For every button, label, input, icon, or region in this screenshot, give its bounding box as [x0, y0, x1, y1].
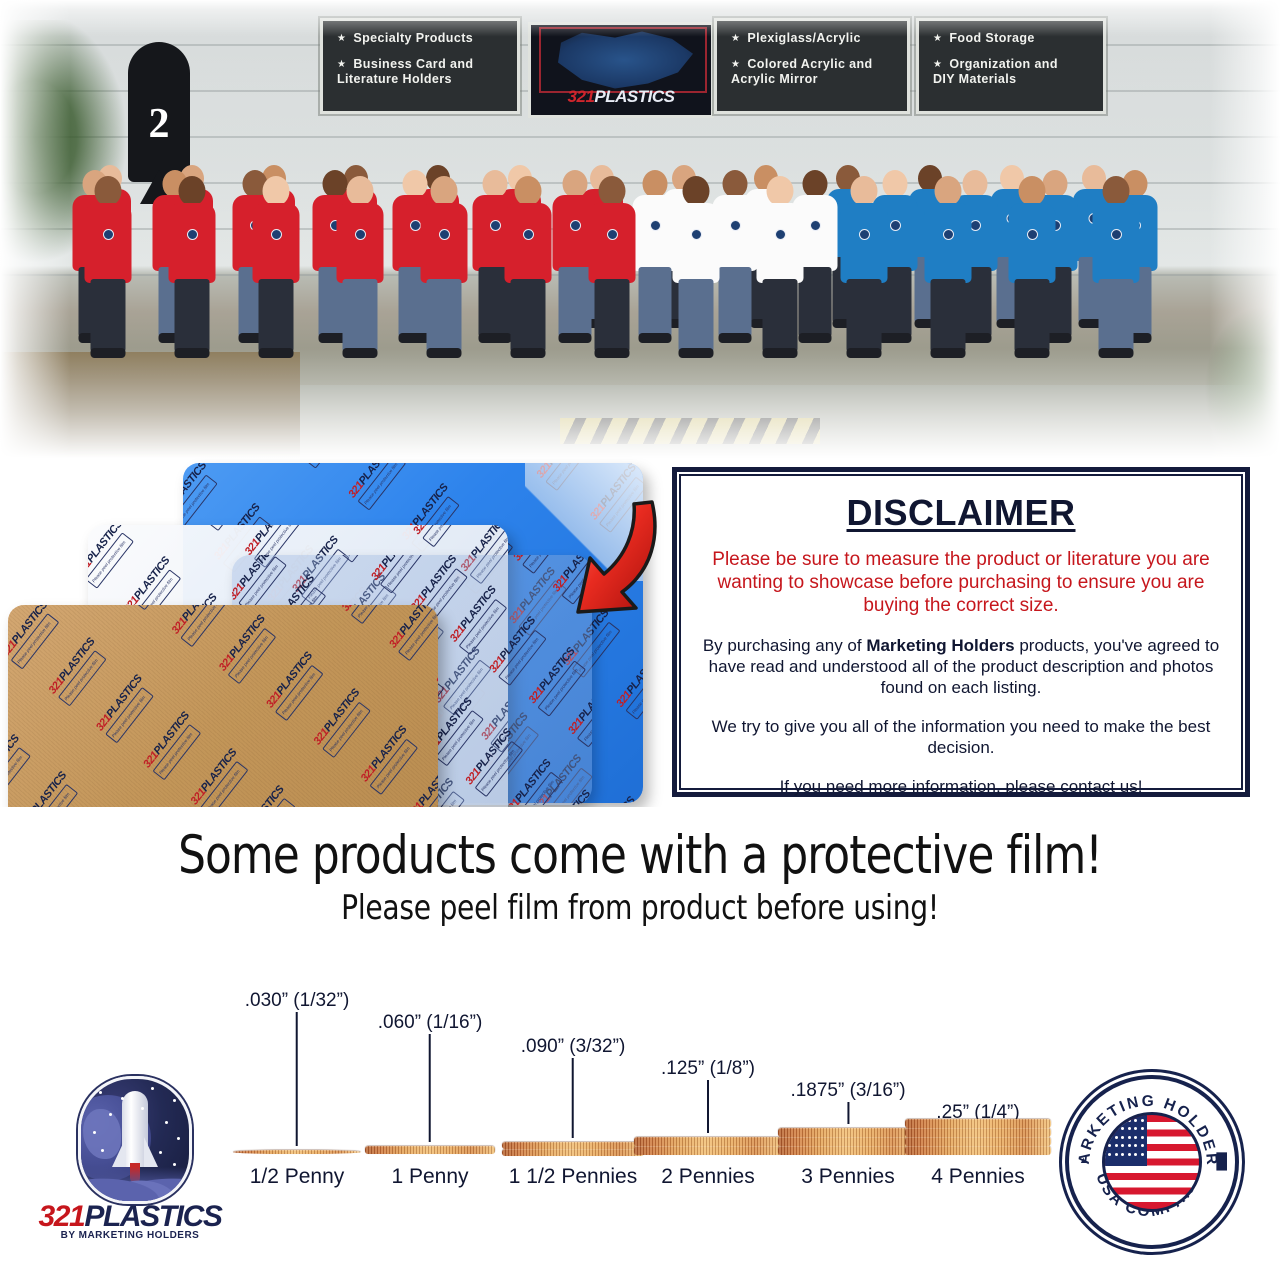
thickness-label: .060” (1/16”) — [378, 1012, 483, 1142]
team-member — [838, 176, 890, 370]
penny-coin — [778, 1128, 918, 1137]
shirt-logo — [650, 220, 661, 231]
penny-stack — [778, 1128, 918, 1155]
disclaimer-box: DISCLAIMER Please be sure to measure the… — [672, 467, 1250, 797]
shirt-logo — [355, 229, 366, 240]
penny-stack — [502, 1142, 644, 1156]
shirt-logo — [691, 229, 702, 240]
team-members — [0, 0, 1280, 458]
member-head — [431, 176, 458, 206]
flag-canton — [1105, 1115, 1147, 1166]
disclaimer-paragraph-1: By purchasing any of Marketing Holders p… — [695, 635, 1227, 698]
team-member — [334, 176, 386, 370]
penny-count-label: 1/2 Penny — [250, 1165, 345, 1189]
member-legs — [847, 279, 882, 352]
penny-count-label: 1 Penny — [391, 1165, 468, 1189]
penny-coin — [634, 1137, 782, 1146]
thickness-label: .030” (1/32”) — [245, 990, 350, 1146]
team-member — [754, 176, 806, 370]
team-member — [670, 176, 722, 370]
penny-coin — [905, 1146, 1051, 1155]
member-shoes — [847, 348, 882, 358]
member-shirt — [673, 203, 720, 283]
member-head — [95, 176, 122, 206]
disclaimer-paragraph-2: We try to give you all of the informatio… — [695, 716, 1227, 758]
penny-coin — [365, 1146, 495, 1154]
team-member — [418, 176, 470, 370]
penny-coin — [502, 1149, 644, 1156]
disclaimer-title: DISCLAIMER — [695, 492, 1227, 534]
member-legs — [343, 279, 378, 352]
rocket-fin-right — [144, 1137, 158, 1167]
penny-stack — [233, 1150, 361, 1154]
penny-stack — [365, 1146, 495, 1154]
member-shoes — [511, 348, 546, 358]
member-shirt — [841, 203, 888, 283]
member-legs — [259, 279, 294, 352]
member-shoes — [931, 348, 966, 358]
team-member — [250, 176, 302, 370]
member-legs — [763, 279, 798, 352]
shirt-logo — [187, 229, 198, 240]
penny-coin — [905, 1128, 1051, 1137]
thickness-value: .090” (3/32”) — [521, 1036, 626, 1058]
clouds-icon — [81, 1167, 189, 1201]
leader-line — [707, 1080, 709, 1133]
penny-coin — [778, 1137, 918, 1146]
thickness-label: .090” (3/32”) — [521, 1036, 626, 1138]
penny-coin — [905, 1119, 1051, 1128]
team-member — [502, 176, 554, 370]
thickness-value: .1875” (3/16”) — [790, 1080, 905, 1102]
member-shirt — [85, 203, 132, 283]
thickness-value: .060” (1/16”) — [378, 1012, 483, 1034]
penny-coin — [634, 1146, 782, 1155]
marketing-holders-usa-seal: MARKETING HOLDERS USA COMPANY ▲ █ — [1065, 1075, 1239, 1249]
thickness-label: .125” (1/8”) — [661, 1058, 755, 1133]
member-shoes — [595, 348, 630, 358]
member-legs — [719, 267, 752, 337]
thickness-value: .030” (1/32”) — [245, 990, 350, 1012]
shirt-logo — [271, 229, 282, 240]
leader-line — [847, 1102, 849, 1124]
member-legs — [175, 279, 210, 352]
member-legs — [91, 279, 126, 352]
usa-map-small-icon: █ — [1216, 1153, 1227, 1170]
member-head — [1019, 176, 1046, 206]
member-shoes — [639, 333, 672, 343]
logo-badge — [78, 1076, 192, 1204]
member-shoes — [763, 348, 798, 358]
headline: Some products come with a protective fil… — [51, 825, 1229, 886]
member-legs — [511, 279, 546, 352]
shirt-logo — [730, 220, 741, 231]
shirt-logo — [775, 229, 786, 240]
team-member — [586, 176, 638, 370]
penny-count-label: 3 Pennies — [801, 1165, 894, 1189]
member-shoes — [1099, 348, 1134, 358]
member-head — [683, 176, 710, 206]
shirt-logo — [810, 220, 821, 231]
team-member — [1006, 176, 1058, 370]
film-pattern: 321PLASTICSPlease peel protective film32… — [8, 605, 438, 807]
member-head — [563, 170, 588, 198]
subheadline: Please peel film from product before usi… — [51, 888, 1229, 928]
member-head — [599, 176, 626, 206]
member-shirt — [421, 203, 468, 283]
member-shirt — [757, 203, 804, 283]
red-curved-arrow-icon — [556, 496, 666, 621]
member-shirt — [1093, 203, 1140, 283]
team-member — [922, 176, 974, 370]
shirt-logo — [103, 229, 114, 240]
member-shoes — [175, 348, 210, 358]
member-head — [723, 170, 748, 198]
shirt-logo — [607, 229, 618, 240]
penny-coin — [502, 1142, 644, 1149]
leader-line — [572, 1058, 574, 1138]
penny-count-label: 2 Pennies — [661, 1165, 754, 1189]
member-shirt — [1009, 203, 1056, 283]
shirt-logo — [439, 229, 450, 240]
member-legs — [931, 279, 966, 352]
penny-stack — [905, 1119, 1051, 1155]
member-shirt — [337, 203, 384, 283]
disclaimer-warning-text: Please be sure to measure the product or… — [695, 548, 1227, 617]
para1-pre: By purchasing any of — [703, 636, 866, 655]
member-legs — [427, 279, 462, 352]
member-head — [179, 176, 206, 206]
leader-line — [429, 1034, 431, 1142]
member-shirt — [169, 203, 216, 283]
member-head — [803, 170, 828, 198]
penny-coin — [778, 1146, 918, 1155]
member-legs — [1015, 279, 1050, 352]
member-shirt — [505, 203, 552, 283]
rocket-icon — [122, 1091, 148, 1167]
penny-count-label: 4 Pennies — [931, 1165, 1024, 1189]
team-member — [166, 176, 218, 370]
member-shoes — [679, 348, 714, 358]
penny-stack — [634, 1137, 782, 1155]
para1-bold: Marketing Holders — [866, 636, 1014, 655]
member-shoes — [91, 348, 126, 358]
kraft-paper-masked-sheet: 321PLASTICSPlease peel protective film32… — [8, 605, 438, 807]
member-head — [263, 176, 290, 206]
shirt-logo — [890, 220, 901, 231]
penny-coin — [905, 1137, 1051, 1146]
logo-wordmark: 321PLASTICS — [30, 1202, 230, 1232]
thickness-value: .125” (1/8”) — [661, 1058, 755, 1080]
member-shoes — [427, 348, 462, 358]
shirt-logo — [859, 229, 870, 240]
shirt-logo — [943, 229, 954, 240]
member-legs — [679, 279, 714, 352]
disclaimer-paragraph-3: If you need more information, please con… — [695, 776, 1227, 797]
us-flag-icon — [1102, 1112, 1202, 1212]
logo-word: PLASTICS — [84, 1200, 221, 1233]
penny-coin — [233, 1150, 361, 1154]
member-head — [767, 176, 794, 206]
shirt-logo — [490, 220, 501, 231]
member-legs — [639, 267, 672, 337]
logo-num: 321 — [38, 1200, 84, 1233]
member-shoes — [719, 333, 752, 343]
team-member — [1090, 176, 1142, 370]
thickness-label: .1875” (3/16”) — [790, 1080, 905, 1124]
logo-321plastics: 321PLASTICS BY MARKETING HOLDERS — [30, 1072, 230, 1242]
leader-line — [296, 1012, 298, 1146]
shirt-logo — [1027, 229, 1038, 240]
member-legs — [595, 279, 630, 352]
penny-count-label: 1 1/2 Pennies — [509, 1165, 637, 1189]
member-shoes — [259, 348, 294, 358]
member-head — [347, 176, 374, 206]
member-head — [851, 176, 878, 206]
member-shoes — [343, 348, 378, 358]
member-shoes — [1015, 348, 1050, 358]
member-shirt — [589, 203, 636, 283]
member-head — [643, 170, 668, 198]
logo-tagline: BY MARKETING HOLDERS — [30, 1230, 230, 1241]
member-shirt — [253, 203, 300, 283]
member-legs — [1099, 279, 1134, 352]
rocket-small-icon: ▲ — [1079, 1155, 1088, 1165]
member-head — [1103, 176, 1130, 206]
member-head — [935, 176, 962, 206]
member-shirt — [925, 203, 972, 283]
team-member — [82, 176, 134, 370]
shirt-logo — [523, 229, 534, 240]
shirt-logo — [570, 220, 581, 231]
member-head — [515, 176, 542, 206]
shirt-logo — [1111, 229, 1122, 240]
team-photo: Specialty Products Business Card and Lit… — [0, 0, 1280, 458]
